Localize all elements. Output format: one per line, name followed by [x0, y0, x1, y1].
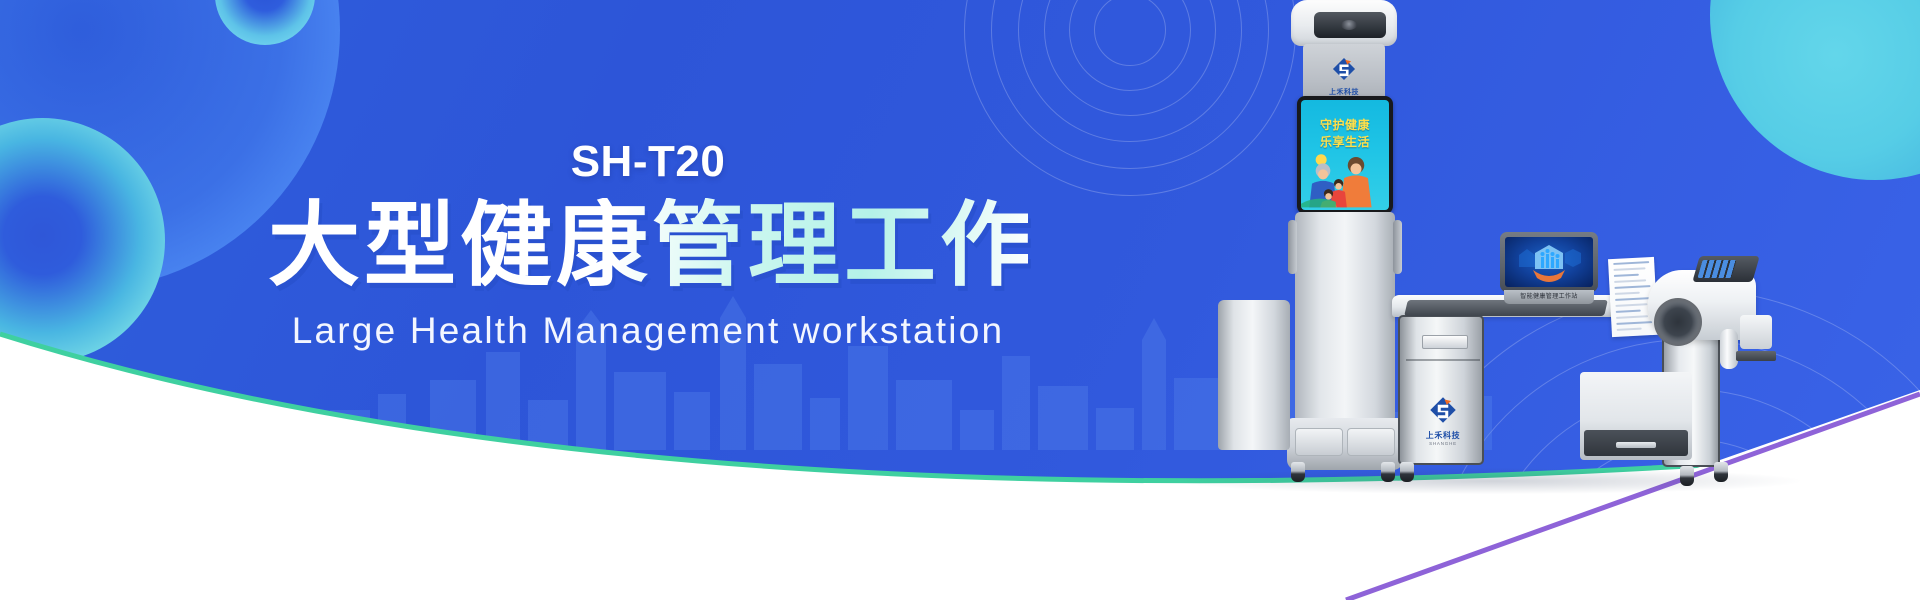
product-hero-banner: SH-T20 大型健康管理工作站 Large Health Management…	[0, 0, 1920, 600]
banner-copy: SH-T20 大型健康管理工作站 Large Health Management…	[268, 140, 1028, 351]
page-title: 大型健康管理工作站	[268, 198, 1028, 295]
subtitle-english: Large Health Management workstation	[268, 311, 1028, 352]
model-code: SH-T20	[268, 140, 1028, 184]
